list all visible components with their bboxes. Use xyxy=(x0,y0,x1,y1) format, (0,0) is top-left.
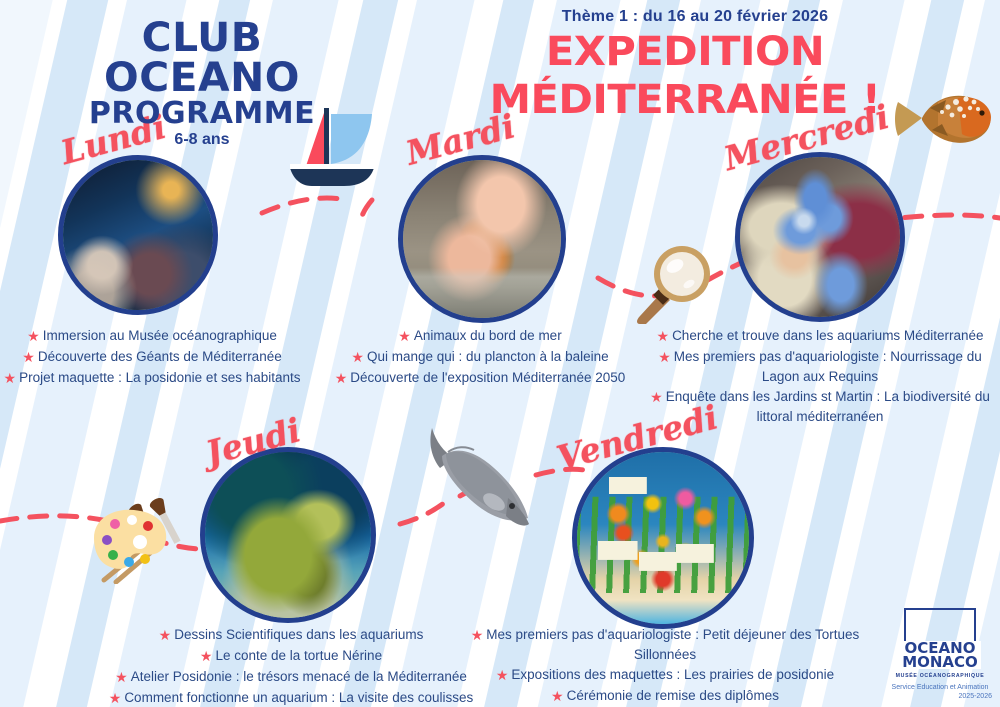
poster-canvas: CLUB OCEANO PROGRAMME 6-8 ans Thème 1 : … xyxy=(0,0,1000,707)
list-item: ★Cérémonie de remise des diplômes xyxy=(470,686,860,706)
day-photo-jeudi xyxy=(200,447,376,623)
logo-service: Service Education et Animation 2025-2026 xyxy=(888,683,992,701)
logo-caption: MUSÉE OCÉANOGRAPHIQUE xyxy=(888,673,992,679)
day-photo-lundi xyxy=(58,155,218,315)
day-photo-mardi xyxy=(398,155,566,323)
list-item: ★Découverte des Géants de Méditerranée xyxy=(2,347,302,367)
expedition-title: EXPEDITION MÉDITERRANÉE ! xyxy=(368,28,1000,124)
list-item: ★Dessins Scientifiques dans les aquarium… xyxy=(96,625,486,645)
day-photo-mercredi xyxy=(735,152,905,322)
star-icon: ★ xyxy=(109,689,122,707)
oceano-monaco-logo: OCEANO MONACO MUSÉE OCÉANOGRAPHIQUE Serv… xyxy=(888,608,992,701)
star-icon: ★ xyxy=(351,348,364,367)
paint-palette-icon xyxy=(82,496,190,584)
list-item: ★Projet maquette : La posidonie et ses h… xyxy=(2,368,302,388)
club-age-label: 6-8 ans xyxy=(52,130,352,150)
list-item: ★Immersion au Musée océanographique xyxy=(2,326,302,346)
day-photo-vendredi xyxy=(572,447,754,629)
club-title-line2: PROGRAMME xyxy=(52,98,352,130)
day-items-jeudi: ★Dessins Scientifiques dans les aquarium… xyxy=(96,625,486,707)
list-item: ★Mes premiers pas d'aquariologiste : Pet… xyxy=(470,625,860,664)
logo-wordmark: OCEANO MONACO xyxy=(899,641,981,669)
star-icon: ★ xyxy=(398,327,411,346)
star-icon: ★ xyxy=(650,388,663,407)
list-item: ★Comment fonctionne un aquarium : La vis… xyxy=(96,688,486,707)
day-items-lundi: ★Immersion au Musée océanographique ★Déc… xyxy=(2,326,302,389)
logo-service-text: Service Education et Animation xyxy=(892,684,989,691)
sperm-whale-icon xyxy=(412,424,544,536)
club-title-line1: CLUB OCEANO xyxy=(49,18,355,98)
day-items-mardi: ★Animaux du bord de mer ★Qui mange qui :… xyxy=(330,326,630,389)
logo-frame: OCEANO MONACO xyxy=(904,608,976,668)
theme-date-line: Thème 1 : du 16 au 20 février 2026 xyxy=(460,8,930,26)
list-item: ★Expositions des maquettes : Les prairie… xyxy=(470,665,860,685)
club-title-block: CLUB OCEANO PROGRAMME 6-8 ans xyxy=(52,18,352,150)
star-icon: ★ xyxy=(27,327,40,346)
star-icon: ★ xyxy=(657,327,670,346)
star-icon: ★ xyxy=(551,687,564,706)
star-icon: ★ xyxy=(496,666,509,685)
list-item: ★Animaux du bord de mer xyxy=(330,326,630,346)
logo-service-year: 2025-2026 xyxy=(888,692,992,701)
list-item: ★Cherche et trouve dans les aquariums Mé… xyxy=(640,326,1000,346)
star-icon: ★ xyxy=(335,369,348,388)
logo-word-line2: MONACO xyxy=(899,655,981,669)
star-icon: ★ xyxy=(4,369,17,388)
star-icon: ★ xyxy=(658,348,671,367)
star-icon: ★ xyxy=(159,626,172,645)
star-icon: ★ xyxy=(22,348,35,367)
list-item: ★Atelier Posidonie : le trésors menacé d… xyxy=(96,667,486,687)
star-icon: ★ xyxy=(115,668,128,687)
list-item: ★Découverte de l'exposition Méditerranée… xyxy=(330,368,630,388)
day-items-vendredi: ★Mes premiers pas d'aquariologiste : Pet… xyxy=(470,625,860,707)
list-item: ★Qui mange qui : du plancton à la balein… xyxy=(330,347,630,367)
star-icon: ★ xyxy=(200,647,213,666)
star-icon: ★ xyxy=(471,626,484,645)
magnifying-glass-icon xyxy=(632,238,718,324)
list-item: ★Le conte de la tortue Nérine xyxy=(96,646,486,666)
list-item: ★Mes premiers pas d'aquariologiste : Nou… xyxy=(640,347,1000,386)
